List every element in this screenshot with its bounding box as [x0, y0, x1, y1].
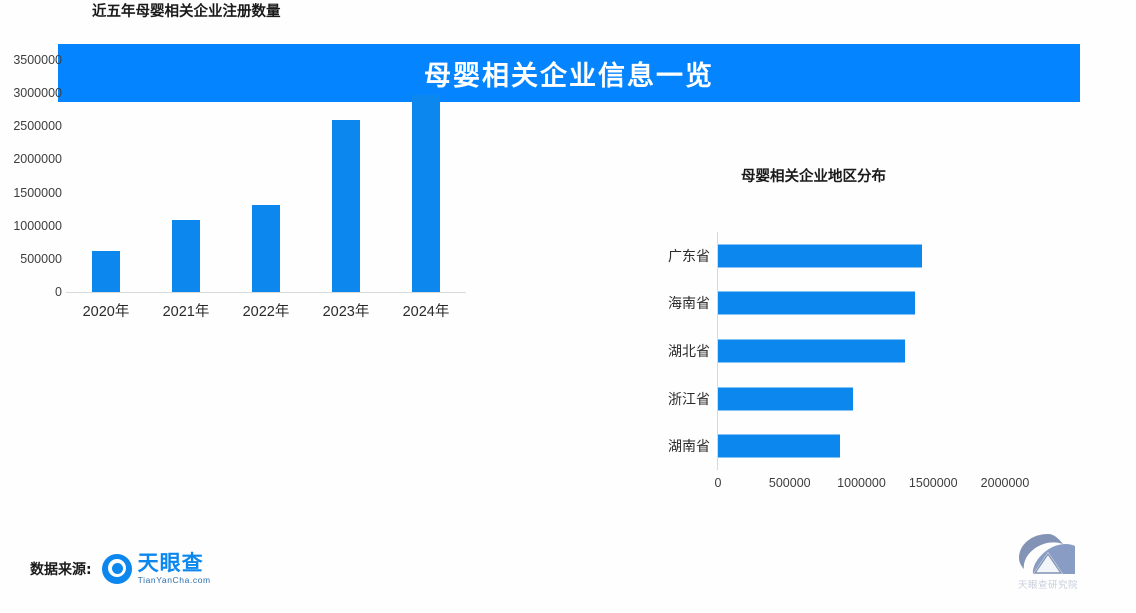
- bar-slot: [306, 60, 386, 292]
- horizontal-chart-value-axis: 0500000100000015000002000000: [718, 476, 1038, 498]
- bar-slot: [718, 422, 1038, 470]
- bar-slot: [718, 280, 1038, 328]
- y-axis-tick-label: 0: [55, 285, 62, 299]
- bar: [718, 244, 922, 267]
- x-axis-tick-label: 2020年: [66, 300, 146, 321]
- vertical-chart-plot-area: 0500000100000015000002000000250000030000…: [0, 60, 500, 305]
- bar-slot: [718, 327, 1038, 375]
- y-axis-tick-label: 500000: [20, 252, 62, 266]
- value-axis-tick-label: 2000000: [981, 476, 1030, 490]
- value-axis-tick-label: 0: [715, 476, 722, 490]
- data-source-label: 数据来源:: [30, 559, 92, 579]
- category-axis-label: 湖北省: [668, 341, 710, 361]
- bar: [412, 95, 440, 292]
- tianyancha-logo: 天眼查 TianYanCha.com: [102, 553, 211, 585]
- bar: [172, 220, 200, 292]
- horizontal-chart-category-axis: 广东省海南省湖北省浙江省湖南省: [640, 232, 710, 470]
- y-axis-tick-label: 2500000: [13, 119, 62, 133]
- bar-slot: [386, 60, 466, 292]
- region-distribution-bar-chart: 广东省海南省湖北省浙江省湖南省 050000010000001500000200…: [640, 232, 1040, 497]
- value-axis-tick-label: 1000000: [837, 476, 886, 490]
- horizontal-chart-bars: [718, 232, 1038, 470]
- y-axis-tick-label: 2000000: [13, 152, 62, 166]
- bar: [332, 120, 360, 292]
- bar: [718, 435, 840, 458]
- value-axis-tick-label: 1500000: [909, 476, 958, 490]
- tianyancha-wordmark: 天眼查 TianYanCha.com: [138, 553, 211, 585]
- vertical-chart-y-axis: 0500000100000015000002000000250000030000…: [0, 60, 62, 292]
- tianyancha-eye-icon: [102, 554, 132, 584]
- tianyancha-name-cn: 天眼查: [138, 553, 211, 574]
- tianyancha-name-en: TianYanCha.com: [138, 576, 211, 585]
- bar: [718, 339, 905, 362]
- vertical-chart-bars: [66, 60, 466, 292]
- category-axis-label: 浙江省: [668, 389, 710, 409]
- bar-slot: [66, 60, 146, 292]
- bar: [718, 292, 915, 315]
- x-axis-tick-label: 2023年: [306, 300, 386, 321]
- bar: [92, 251, 120, 292]
- x-axis-tick-label: 2022年: [226, 300, 306, 321]
- category-axis-label: 广东省: [668, 246, 710, 266]
- left-chart-title: 近五年母婴相关企业注册数量: [92, 0, 281, 21]
- infographic-page: 母婴相关企业信息一览 近五年母婴相关企业注册数量 050000010000001…: [0, 0, 1136, 613]
- y-axis-tick-label: 1500000: [13, 186, 62, 200]
- bar-slot: [226, 60, 306, 292]
- x-axis-tick-label: 2024年: [386, 300, 466, 321]
- watermark-label: 天眼查研究院: [1018, 577, 1078, 591]
- bar: [252, 205, 280, 292]
- research-institute-watermark: 天眼查研究院: [1000, 532, 1096, 598]
- data-source: 数据来源: 天眼查 TianYanCha.com: [30, 553, 211, 585]
- bar-slot: [718, 375, 1038, 423]
- value-axis-tick-label: 500000: [769, 476, 811, 490]
- right-chart-title: 母婴相关企业地区分布: [741, 165, 886, 186]
- y-axis-tick-label: 1000000: [13, 219, 62, 233]
- vertical-chart-baseline: [66, 292, 466, 293]
- y-axis-tick-label: 3000000: [13, 86, 62, 100]
- category-axis-label: 湖南省: [668, 436, 710, 456]
- bar: [718, 387, 853, 410]
- bar-slot: [718, 232, 1038, 280]
- watermark-logo-icon: [1017, 532, 1079, 576]
- category-axis-label: 海南省: [668, 293, 710, 313]
- bar-slot: [146, 60, 226, 292]
- x-axis-tick-label: 2021年: [146, 300, 226, 321]
- y-axis-tick-label: 3500000: [13, 53, 62, 67]
- vertical-chart-x-axis: 2020年2021年2022年2023年2024年: [66, 300, 466, 326]
